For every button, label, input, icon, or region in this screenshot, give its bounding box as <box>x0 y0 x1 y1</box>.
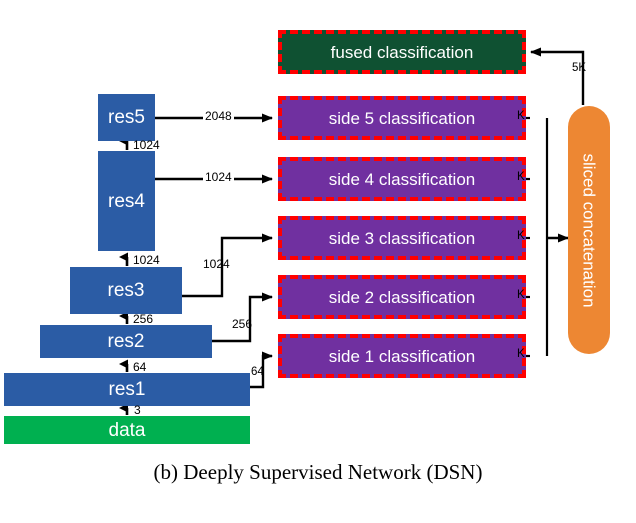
box-fused-classification[interactable]: fused classification <box>278 30 526 74</box>
block-res5[interactable]: res5 <box>98 94 155 141</box>
edge-label-data-res1: 3 <box>134 404 141 416</box>
side-4-label: side 4 classification <box>329 171 475 188</box>
edge-label-res4-res5: 1024 <box>133 139 160 151</box>
side-1-label: side 1 classification <box>329 348 475 365</box>
box-side-5-classification[interactable]: side 5 classification <box>278 96 526 140</box>
k-label-side4: K <box>517 172 525 184</box>
block-res3-label: res3 <box>108 281 145 300</box>
block-res2[interactable]: res2 <box>40 325 212 358</box>
box-side-1-classification[interactable]: side 1 classification <box>278 334 526 378</box>
box-side-2-classification[interactable]: side 2 classification <box>278 275 526 319</box>
block-data[interactable]: data <box>4 416 250 444</box>
side-5-label: side 5 classification <box>329 110 475 127</box>
block-res5-label: res5 <box>108 108 145 127</box>
fused-classification-label: fused classification <box>331 44 474 61</box>
block-data-label: data <box>109 421 146 440</box>
connector-layer <box>0 0 636 523</box>
figure-caption: (b) Deeply Supervised Network (DSN) <box>0 460 636 485</box>
k-label-side1: K <box>517 349 525 361</box>
k-label-side3: K <box>517 231 525 243</box>
edge-label-res2-res3: 256 <box>133 313 153 325</box>
block-res2-label: res2 <box>108 332 145 351</box>
edge-label-res2-side2: 256 <box>232 318 252 330</box>
block-res4-label: res4 <box>108 192 145 211</box>
side-3-label: side 3 classification <box>329 230 475 247</box>
edge-label-5k: 5K <box>572 63 586 75</box>
edge-label-res1-res2: 64 <box>133 361 146 373</box>
k-label-side2: K <box>517 290 525 302</box>
edge-label-res1-side1: 64 <box>251 367 264 379</box>
block-res1[interactable]: res1 <box>4 373 250 406</box>
box-sliced-concatenation[interactable]: sliced concatenation <box>568 106 610 354</box>
box-side-3-classification[interactable]: side 3 classification <box>278 216 526 260</box>
block-res3[interactable]: res3 <box>70 267 182 314</box>
block-res4[interactable]: res4 <box>98 151 155 251</box>
block-res1-label: res1 <box>109 380 146 399</box>
edge-label-res5-side5: 2048 <box>203 110 234 122</box>
sliced-concatenation-label: sliced concatenation <box>581 153 598 307</box>
edge-label-res3-side3: 1024 <box>203 258 230 270</box>
arrow-concat-to-fused <box>531 52 583 105</box>
figure-canvas: data res1 res2 res3 res4 res5 3 64 256 1… <box>0 0 636 523</box>
k-label-side5: K <box>517 111 525 123</box>
box-side-4-classification[interactable]: side 4 classification <box>278 157 526 201</box>
edge-label-res3-res4: 1024 <box>133 254 160 266</box>
side-2-label: side 2 classification <box>329 289 475 306</box>
edge-label-res4-side4: 1024 <box>203 171 234 183</box>
